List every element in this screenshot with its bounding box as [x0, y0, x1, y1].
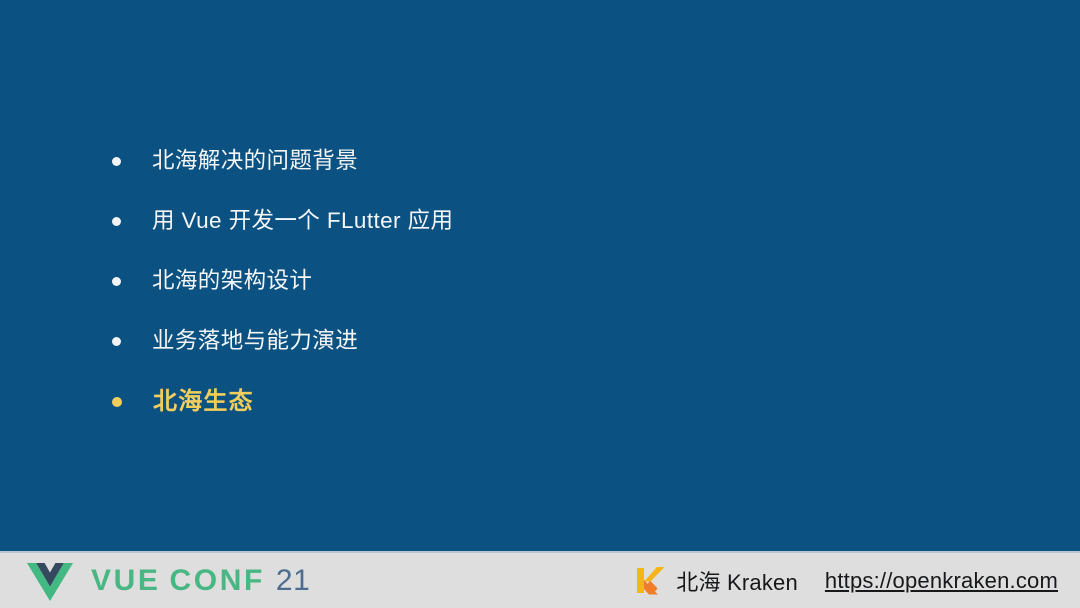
- slide-footer: VUE CONF 21 北海 Kraken https://openkraken…: [0, 551, 1080, 608]
- agenda-item-label: 北海生态: [153, 390, 254, 414]
- bullet-dot-icon: [112, 397, 122, 407]
- vue-logo-icon: [27, 561, 73, 601]
- sponsor-name: 北海 Kraken: [676, 565, 798, 597]
- agenda-item-label: 北海解决的问题背景: [152, 150, 358, 173]
- agenda-item-5-active[interactable]: 北海生态: [112, 372, 1080, 431]
- vueconf-wordmark: VUE CONF 21: [91, 564, 310, 598]
- sponsor-branding: 北海 Kraken https://openkraken.com: [635, 565, 1058, 597]
- wordmark-conf: CONF: [170, 564, 265, 598]
- agenda-item-4[interactable]: 业务落地与能力演进: [112, 312, 1080, 371]
- agenda-item-2[interactable]: 用 Vue 开发一个 FLutter 应用: [112, 192, 1080, 251]
- agenda-item-1[interactable]: 北海解决的问题背景: [112, 132, 1080, 191]
- agenda-item-label: 业务落地与能力演进: [152, 330, 358, 353]
- agenda-item-label: 用 Vue 开发一个 FLutter 应用: [152, 210, 453, 233]
- bullet-dot-icon: [112, 337, 121, 346]
- bullet-dot-icon: [112, 277, 121, 286]
- bullet-dot-icon: [112, 157, 121, 166]
- wordmark-year: 21: [276, 564, 310, 598]
- sponsor-url-link[interactable]: https://openkraken.com: [825, 568, 1058, 594]
- bullet-dot-icon: [112, 217, 121, 226]
- agenda-item-label: 北海的架构设计: [152, 270, 312, 293]
- presentation-slide: 北海解决的问题背景 用 Vue 开发一个 FLutter 应用 北海的架构设计 …: [0, 0, 1080, 608]
- conference-branding: VUE CONF 21: [27, 561, 310, 601]
- agenda-list: 北海解决的问题背景 用 Vue 开发一个 FLutter 应用 北海的架构设计 …: [0, 0, 1080, 551]
- agenda-item-3[interactable]: 北海的架构设计: [112, 252, 1080, 311]
- wordmark-vue: VUE: [91, 564, 161, 598]
- kraken-k-logo-icon: [635, 565, 665, 596]
